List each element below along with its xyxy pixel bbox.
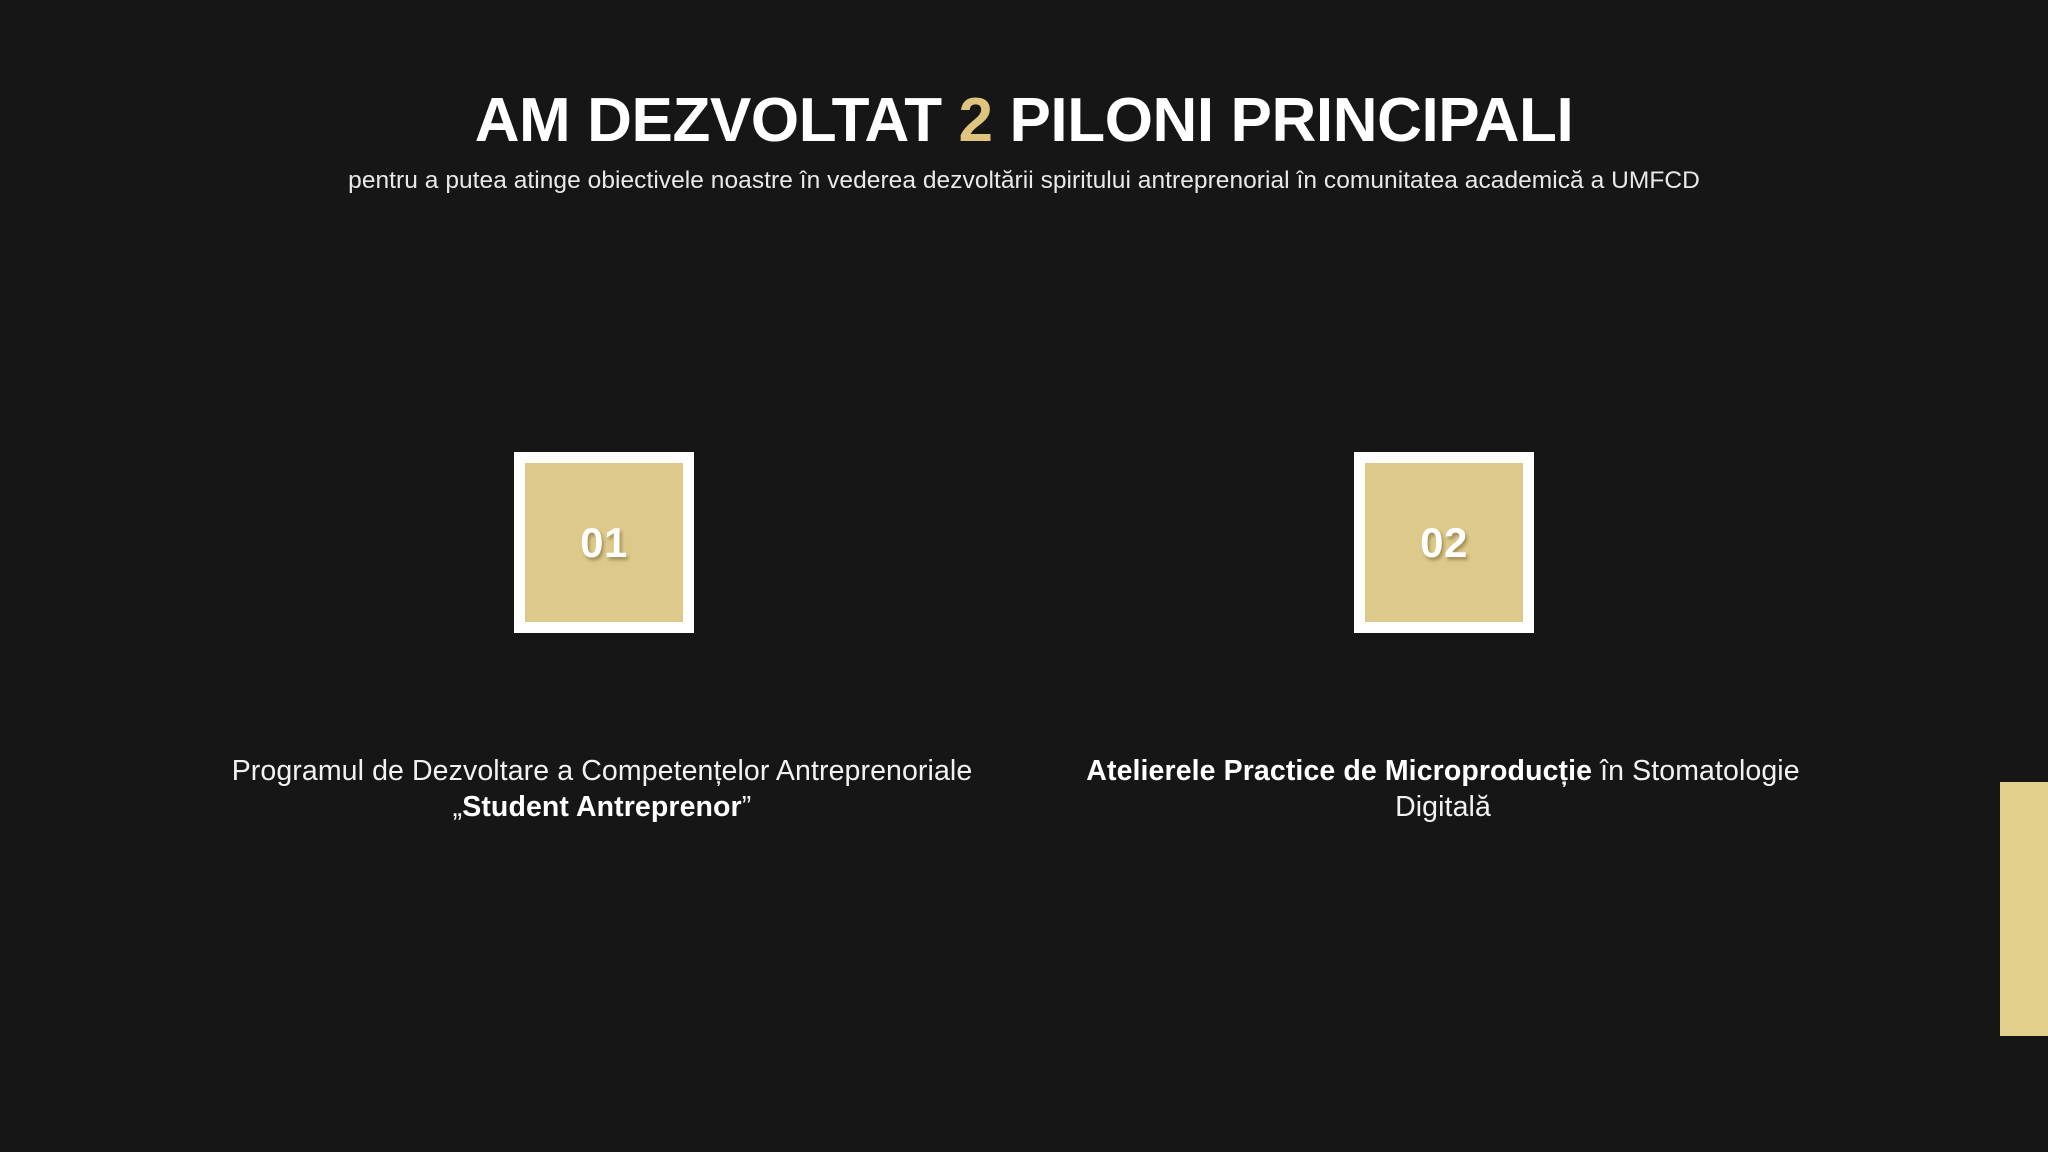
pillar-caption-02: Atelierele Practice de Microproducție în…: [1063, 754, 1823, 826]
pillar-caption-02-program-name: Atelierele Practice de Microproducție: [1086, 755, 1592, 787]
title-text-leading: AM DEZVOLTAT: [475, 86, 959, 155]
decorative-gold-bar: [2000, 782, 2048, 1036]
pillar-number-02: 02: [1420, 519, 1468, 567]
pillar-badge-01: 01: [514, 452, 694, 633]
slide-root: AM DEZVOLTAT 2 PILONI PRINCIPALI pentru …: [0, 0, 2048, 1152]
pillars-row: 01 Programul de Dezvoltare a Competențel…: [0, 452, 2048, 826]
pillar-caption-01-line1: Programul de Dezvoltare a Competențelor: [232, 755, 770, 787]
pillar-item-02: 02 Atelierele Practice de Microproducție…: [1024, 452, 1864, 826]
pillar-badge-fill-01: 01: [525, 463, 683, 622]
pillar-badge-02: 02: [1354, 452, 1534, 633]
pillar-caption-01: Programul de Dezvoltare a Competențelor …: [222, 754, 982, 826]
pillar-caption-01-quote-close: ”: [742, 791, 752, 823]
slide-header: AM DEZVOLTAT 2 PILONI PRINCIPALI pentru …: [0, 88, 2048, 196]
page-title: AM DEZVOLTAT 2 PILONI PRINCIPALI: [0, 88, 2048, 154]
pillar-number-01: 01: [580, 519, 628, 567]
pillar-caption-01-program-name: Student Antreprenor: [462, 791, 742, 823]
pillar-badge-fill-02: 02: [1365, 463, 1523, 622]
pillar-caption-02-connector: în: [1592, 755, 1624, 787]
title-text-trailing: PILONI PRINCIPALI: [993, 86, 1574, 155]
page-subtitle: pentru a putea atinge obiectivele noastr…: [0, 166, 2048, 197]
pillar-item-01: 01 Programul de Dezvoltare a Competențel…: [184, 452, 1024, 826]
title-accent-number: 2: [959, 86, 993, 155]
